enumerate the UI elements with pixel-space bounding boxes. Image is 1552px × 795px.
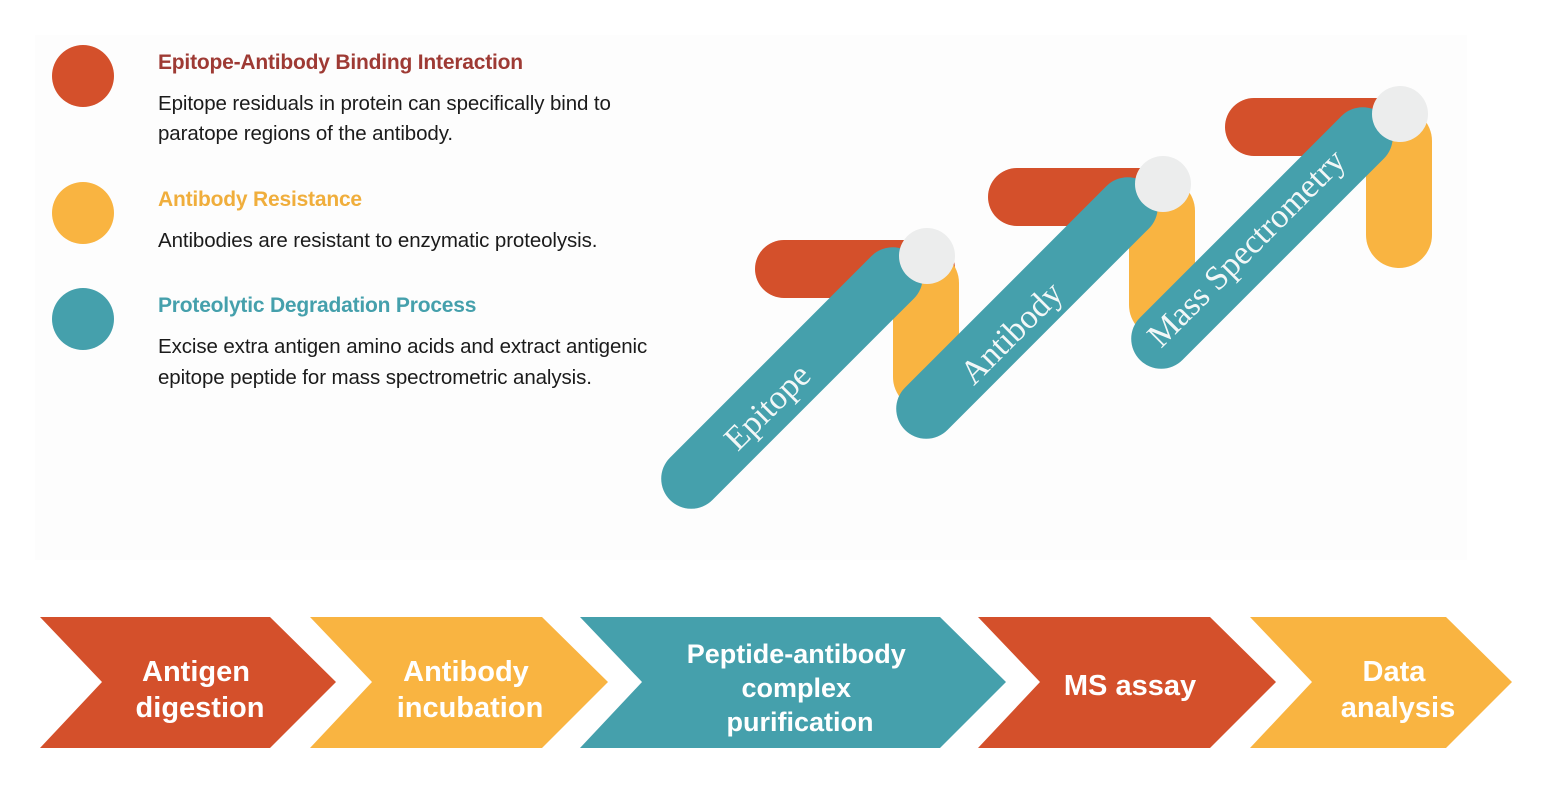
legend-item-epitope-antibody-binding: Epitope-Antibody Binding Interaction Epi… <box>52 45 672 150</box>
legend-description: Epitope residuals in protein can specifi… <box>158 89 658 150</box>
legend-item-proteolytic-degradation: Proteolytic Degradation Process Excise e… <box>52 288 672 393</box>
legend-title: Epitope-Antibody Binding Interaction <box>158 51 672 75</box>
ribbon-step-antigen-digestion[interactable]: Antigen digestion <box>40 617 336 748</box>
legend-item-antibody-resistance: Antibody Resistance Antibodies are resis… <box>52 182 672 256</box>
teal-dot-icon <box>52 288 114 350</box>
legend-description: Antibodies are resistant to enzymatic pr… <box>158 226 598 256</box>
ribbon-step-antibody-incubation[interactable]: Antibody incubation <box>310 617 608 748</box>
diagram-step-epitope: Epitope <box>649 228 959 521</box>
legend-description: Excise extra antigen amino acids and ext… <box>158 332 648 393</box>
white-circle-icon <box>1372 86 1428 142</box>
ribbon-step-data-analysis[interactable]: Data analysis <box>1250 617 1512 748</box>
ribbon-step-label: MS assay <box>1064 670 1196 702</box>
staircase-diagram: Epitope Antibody Mass Spectrometry <box>640 60 1480 560</box>
process-ribbon: Antigen digestion Antibody incubation Pe… <box>40 617 1512 748</box>
yellow-dot-icon <box>52 182 114 244</box>
white-circle-icon <box>1135 156 1191 212</box>
legend-list: Epitope-Antibody Binding Interaction Epi… <box>52 45 672 401</box>
legend-title: Proteolytic Degradation Process <box>158 294 672 318</box>
ribbon-step-peptide-antibody-complex-purification[interactable]: Peptide-antibody complex purification <box>580 617 1006 748</box>
red-dot-icon <box>52 45 114 107</box>
ribbon-step-ms-assay[interactable]: MS assay <box>978 617 1276 748</box>
legend-title: Antibody Resistance <box>158 188 672 212</box>
white-circle-icon <box>899 228 955 284</box>
